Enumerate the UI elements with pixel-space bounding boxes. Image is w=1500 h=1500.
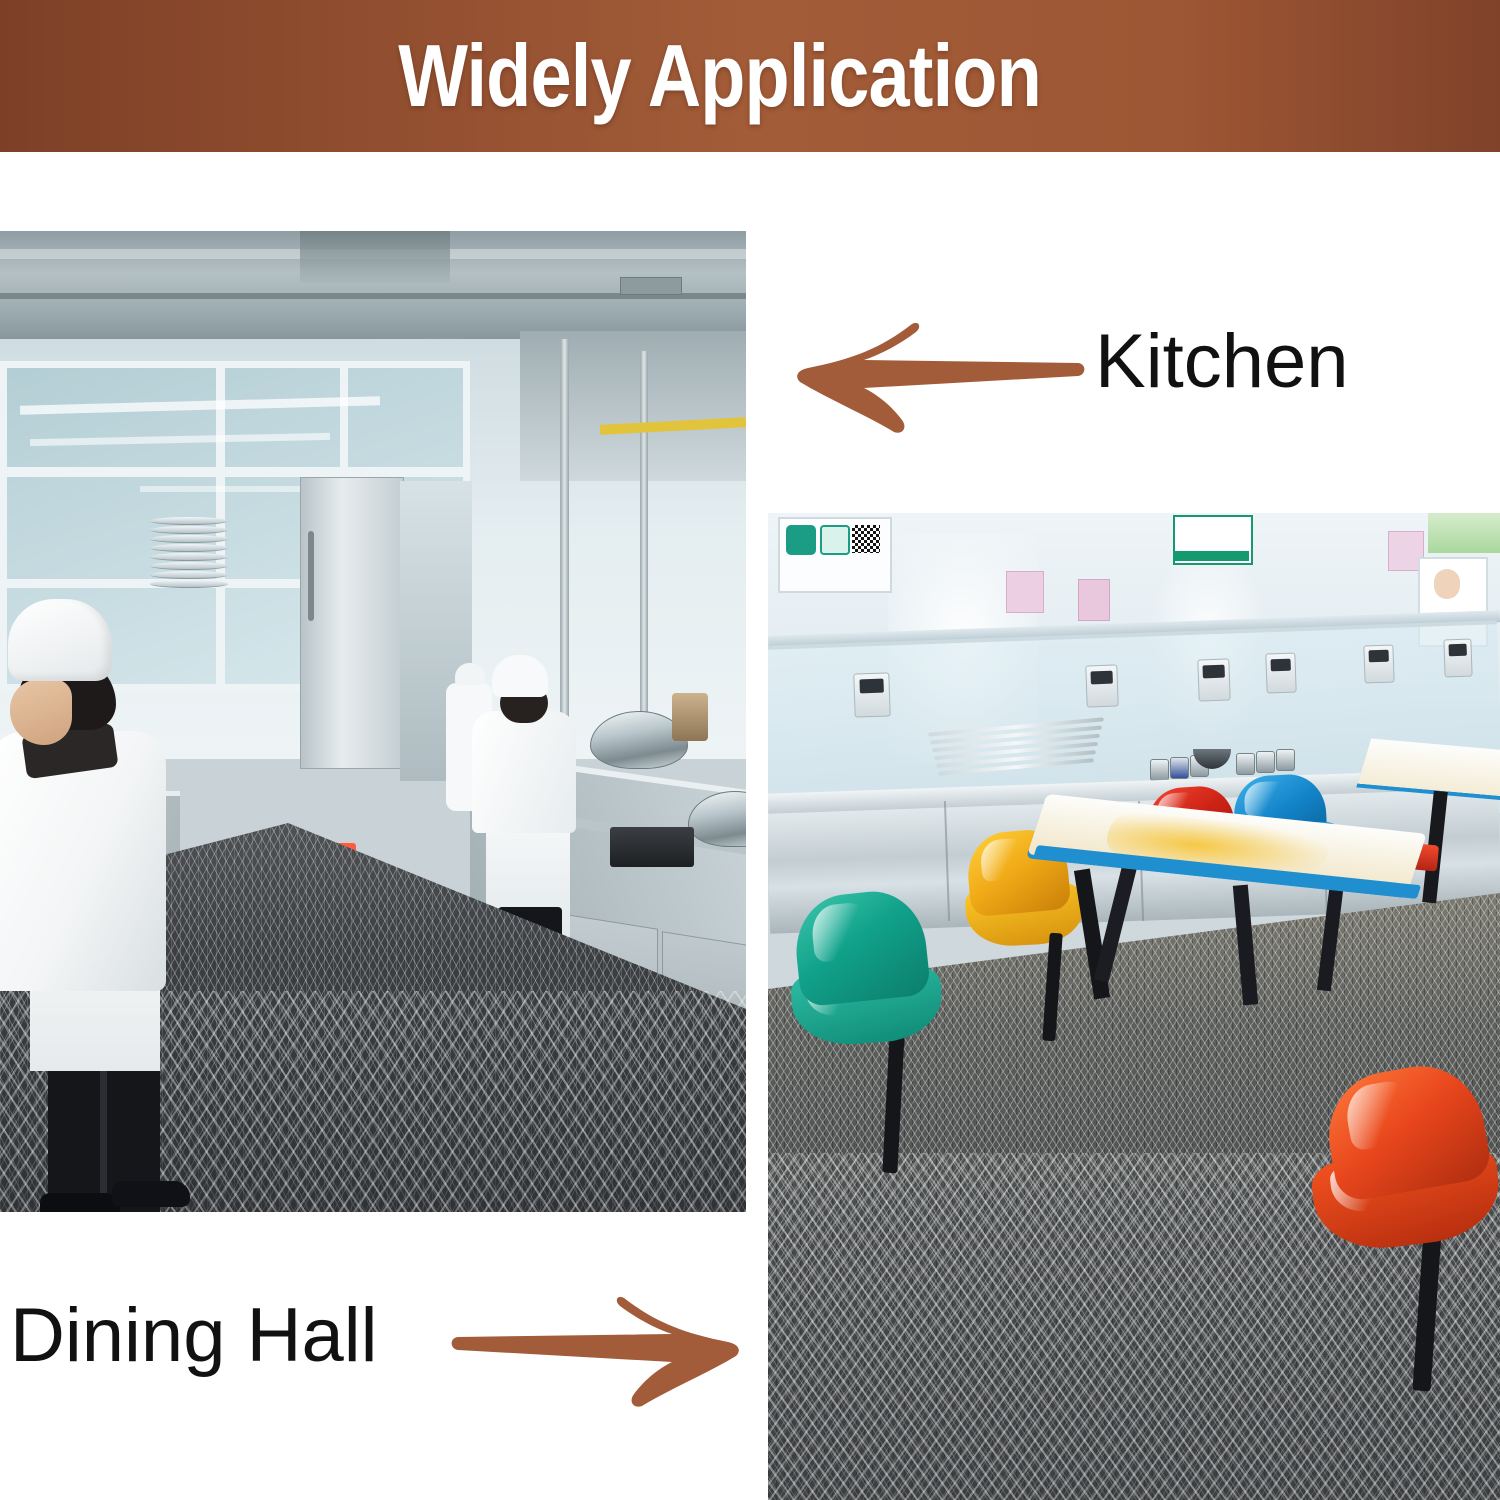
chef-hat-foreground bbox=[8, 599, 112, 681]
chef-hat bbox=[455, 663, 485, 685]
page-title: Widely Application bbox=[399, 32, 1042, 120]
pos-terminal bbox=[1443, 639, 1472, 678]
metal-cup bbox=[1276, 749, 1295, 771]
vertical-pipe bbox=[560, 339, 569, 769]
chef-face bbox=[10, 679, 72, 745]
arrow-right-icon bbox=[446, 1292, 746, 1412]
utensil-jar bbox=[672, 693, 708, 741]
pos-terminal bbox=[1265, 652, 1296, 693]
chef-hat bbox=[492, 655, 548, 697]
header-banner: Widely Application bbox=[0, 0, 1500, 152]
ceiling-vent bbox=[620, 277, 682, 295]
ceiling-duct bbox=[300, 231, 450, 283]
metal-cup bbox=[1236, 753, 1255, 775]
stainless-fridge bbox=[300, 477, 404, 769]
fridge-handle bbox=[308, 531, 314, 621]
black-tray bbox=[610, 827, 694, 867]
vertical-pipe bbox=[640, 351, 648, 751]
notice-poster-green-bar bbox=[1173, 551, 1249, 561]
dining-hall-callout: Dining Hall bbox=[10, 1272, 750, 1442]
metal-cup bbox=[1256, 751, 1275, 773]
arrow-left-icon bbox=[790, 314, 1090, 434]
metal-cup bbox=[1170, 757, 1189, 779]
chef-shoe bbox=[112, 1181, 190, 1207]
stacked-plates bbox=[150, 517, 228, 591]
payment-logo-icon bbox=[786, 525, 816, 555]
pos-terminal bbox=[1197, 658, 1230, 701]
kitchen-photo bbox=[0, 231, 746, 1212]
chef-midground bbox=[472, 711, 576, 833]
chef-shoe bbox=[40, 1193, 120, 1212]
pos-terminal bbox=[1363, 644, 1394, 683]
notice-poster-pink bbox=[1006, 571, 1044, 613]
staff-photo-face bbox=[1434, 569, 1460, 599]
dining-hall-label: Dining Hall bbox=[10, 1292, 378, 1379]
pos-terminal bbox=[853, 672, 891, 717]
notice-poster-pink bbox=[1078, 579, 1110, 621]
glass-mullion-h bbox=[0, 467, 470, 477]
dining-hall-photo bbox=[768, 513, 1500, 1500]
kitchen-label: Kitchen bbox=[1095, 318, 1349, 405]
kitchen-callout: Kitchen bbox=[790, 300, 1410, 450]
pos-terminal bbox=[1085, 664, 1118, 707]
extractor-hood bbox=[520, 331, 746, 481]
stacked-trays bbox=[928, 725, 1108, 783]
food-photo-poster bbox=[1428, 513, 1500, 553]
metal-cup bbox=[1150, 759, 1169, 781]
qr-code-icon bbox=[852, 525, 880, 553]
payment-logo-icon bbox=[820, 525, 850, 555]
